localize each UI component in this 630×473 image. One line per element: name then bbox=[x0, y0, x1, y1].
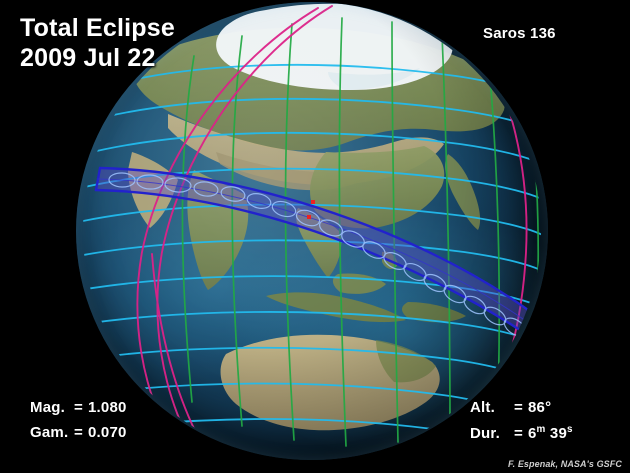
duration-key: Dur. bbox=[470, 425, 514, 442]
gamma-stat: Gam.=0.070 bbox=[30, 424, 127, 441]
saros-label: Saros 136 bbox=[483, 25, 556, 42]
magnitude-key: Mag. bbox=[30, 399, 74, 416]
magnitude-equals: = bbox=[74, 399, 88, 416]
magnitude-value: 1.080 bbox=[88, 399, 127, 416]
altitude-stat: Alt.=86° bbox=[470, 399, 551, 416]
page-title-line-1: Total Eclipse bbox=[20, 14, 175, 43]
credit-line: F. Espenak, NASA's GSFC bbox=[508, 459, 622, 469]
duration-minutes: 6 bbox=[528, 425, 537, 442]
penumbral-magnitude-curves bbox=[78, 65, 548, 452]
duration-equals: = bbox=[514, 425, 528, 442]
altitude-key: Alt. bbox=[470, 399, 514, 416]
path-central-line bbox=[98, 179, 541, 332]
gamma-value: 0.070 bbox=[88, 424, 127, 441]
gamma-equals: = bbox=[74, 424, 88, 441]
magnitude-stat: Mag.=1.080 bbox=[30, 399, 127, 416]
gamma-key: Gam. bbox=[30, 424, 74, 441]
altitude-equals: = bbox=[514, 399, 528, 416]
duration-minutes-unit: m bbox=[537, 424, 546, 435]
duration-seconds-unit: s bbox=[567, 424, 573, 435]
duration-stat: Dur.=6m 39s bbox=[470, 424, 573, 442]
duration-seconds: 39 bbox=[550, 425, 567, 442]
page-title-line-2: 2009 Jul 22 bbox=[20, 44, 156, 73]
altitude-value: 86° bbox=[528, 399, 551, 416]
eclipse-figure: Total Eclipse 2009 Jul 22 Saros 136 Mag.… bbox=[0, 0, 630, 473]
